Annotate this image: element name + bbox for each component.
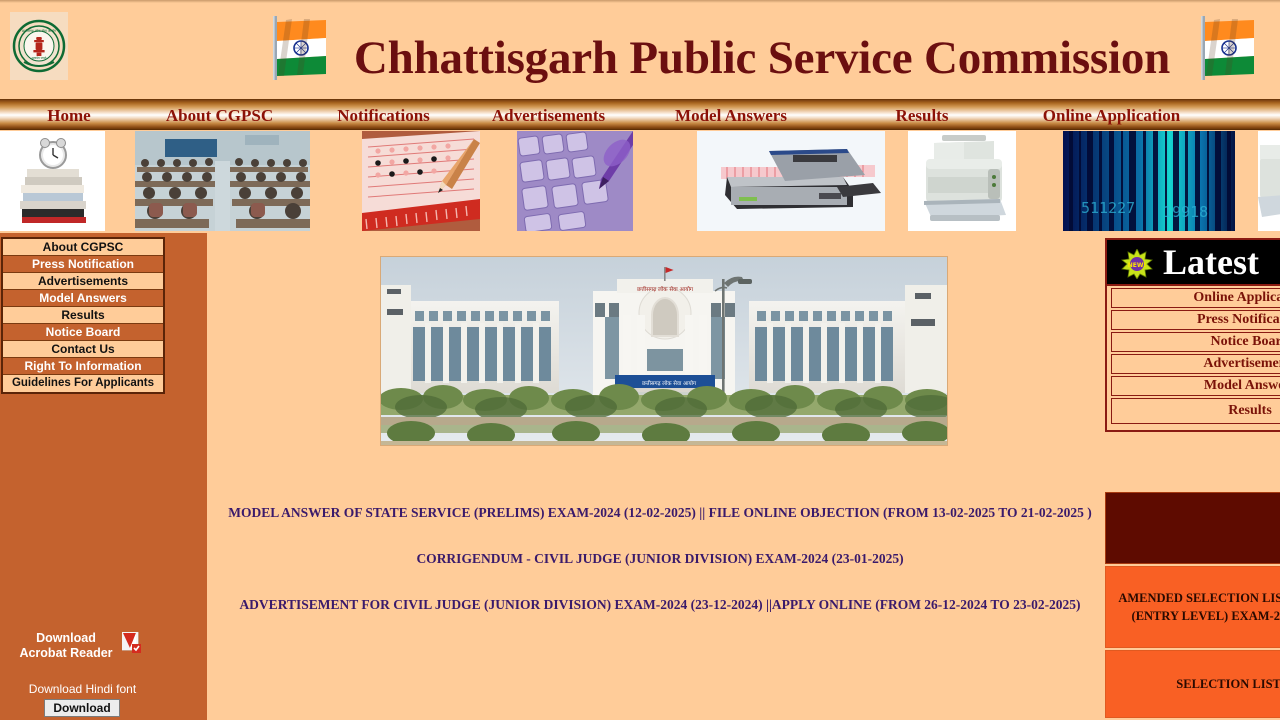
svg-text:छत्तीसगढ़ लोक सेवा आयोग: छत्तीसगढ़ लोक सेवा आयोग: [637, 285, 694, 293]
latest-banner-title: Latest: [1163, 241, 1259, 283]
latest-item-results[interactable]: Results: [1111, 398, 1280, 424]
sidebar-item-press-notification[interactable]: Press Notification: [3, 256, 163, 273]
notice-item-corrigendum-civil-judge[interactable]: CORRIGENDUM - CIVIL JUDGE (JUNIOR DIVISI…: [215, 551, 1105, 567]
latest-item-advertisements[interactable]: Advertisements: [1111, 354, 1280, 374]
sidebar-item-advertisements[interactable]: Advertisements: [3, 273, 163, 290]
notice-announcements: MODEL ANSWER OF STATE SERVICE (PRELIMS) …: [215, 505, 1105, 643]
latest-banner: NEW! Latest: [1105, 238, 1280, 286]
banner-image-strip: 511227 19918: [0, 131, 1280, 233]
main-navigation-bar: Home About CGPSC Notifications Advertise…: [0, 99, 1280, 130]
hindi-font-download-button[interactable]: Download: [44, 699, 120, 717]
notice-item-model-answer-prelims[interactable]: MODEL ANSWER OF STATE SERVICE (PRELIMS) …: [215, 505, 1105, 521]
svg-text:छत्तीसगढ़ लोक सेवा आयोग: छत्तीसगढ़ लोक सेवा आयोग: [22, 28, 56, 33]
svg-text:NEW!: NEW!: [1128, 262, 1146, 269]
title-block: Chhattisgarh Public Service Commission: [270, 14, 1260, 94]
left-sidebar: About CGPSC Press Notification Advertise…: [0, 233, 207, 720]
new-item-selection-list-part[interactable]: SELECTION LIST - PART: [1105, 650, 1280, 718]
acrobat-download-line1: Download: [14, 631, 118, 646]
exam-hall-image: [135, 131, 310, 231]
nav-item-results[interactable]: Results: [831, 106, 1013, 126]
latest-item-notice-board[interactable]: Notice Board: [1111, 332, 1280, 352]
right-sidebar-latest: NEW! Latest Online Application Press Not…: [1105, 238, 1280, 432]
adobe-acrobat-icon[interactable]: [122, 632, 142, 654]
latest-item-online-application[interactable]: Online Application: [1111, 288, 1280, 308]
nav-item-advertisements[interactable]: Advertisements: [466, 106, 631, 126]
new-item-amended-selection-list[interactable]: AMENDED SELECTION LIST - CIVIL JUDGE (EN…: [1105, 566, 1280, 648]
nav-item-notifications[interactable]: Notifications: [301, 106, 466, 126]
latest-item-press-notification[interactable]: Press Notification: [1111, 310, 1280, 330]
sidebar-item-about-cgpsc[interactable]: About CGPSC: [3, 239, 163, 256]
svg-text:छत्तीसगढ़ लोक सेवा आयोग: छत्तीसगढ़ लोक सेवा आयोग: [642, 380, 697, 387]
svg-text:सत्यमेव जयते: सत्यमेव जयते: [32, 56, 47, 60]
indian-flag-icon: [270, 16, 332, 80]
cgpsc-building-photo: छत्तीसगढ़ लोक सेवा आयोग छत्तीसगढ़ लोक से…: [380, 256, 948, 446]
nav-list: Home About CGPSC Notifications Advertise…: [0, 100, 1280, 131]
nav-item-home[interactable]: Home: [0, 106, 138, 126]
svg-text:19918: 19918: [1163, 203, 1208, 221]
indian-flag-icon: [1198, 16, 1260, 80]
sidebar-item-model-answers[interactable]: Model Answers: [3, 290, 163, 307]
nav-item-online-application[interactable]: Online Application: [1013, 106, 1210, 126]
scanner-edge-image: [1258, 131, 1280, 231]
sidebar-item-guidelines-for-applicants[interactable]: Guidelines For Applicants: [3, 375, 163, 392]
notice-item-advertisement-civil-judge[interactable]: ADVERTISEMENT FOR CIVIL JUDGE (JUNIOR DI…: [215, 597, 1105, 613]
nav-item-about-cgpsc[interactable]: About CGPSC: [138, 106, 301, 126]
books-and-clock-image: [0, 131, 105, 231]
new-announcements-panel: ..NEW.. AMENDED SELECTION LIST - CIVIL J…: [1105, 492, 1280, 718]
cgpsc-emblem-icon: छत्तीसगढ़ लोक सेवा आयोग सत्यमेव जयते: [10, 12, 68, 80]
acrobat-download-label[interactable]: Download Acrobat Reader: [14, 631, 118, 661]
keyboard-pen-image: [517, 131, 633, 231]
acrobat-download-line2: Acrobat Reader: [14, 646, 118, 661]
nav-item-model-answers[interactable]: Model Answers: [631, 106, 831, 126]
sidebar-item-contact-us[interactable]: Contact Us: [3, 341, 163, 358]
document-scanner-image: [908, 131, 1016, 231]
sidebar-item-right-to-information[interactable]: Right To Information: [3, 358, 163, 375]
new-burst-icon: NEW!: [1121, 249, 1153, 279]
cgpsc-homepage: छत्तीसगढ़ लोक सेवा आयोग सत्यमेव जयते: [0, 0, 1280, 720]
hindi-font-label: Download Hindi font: [0, 682, 165, 696]
left-sidebar-menu: About CGPSC Press Notification Advertise…: [1, 237, 165, 394]
latest-item-model-answers[interactable]: Model Answers: [1111, 376, 1280, 396]
latest-links-list: Online Application Press Notification No…: [1105, 286, 1280, 432]
new-panel-header: ..NEW..: [1105, 492, 1280, 564]
omr-scanner-image: [697, 131, 885, 231]
svg-text:511227: 511227: [1081, 199, 1135, 217]
barcode-image: 511227 19918: [1063, 131, 1235, 231]
omr-sheet-pencil-image: [362, 131, 480, 231]
header-top-rule: [0, 0, 1280, 3]
sidebar-item-results[interactable]: Results: [3, 307, 163, 324]
page-title: Chhattisgarh Public Service Commission: [336, 30, 1188, 86]
sidebar-item-notice-board[interactable]: Notice Board: [3, 324, 163, 341]
site-header: छत्तीसगढ़ लोक सेवा आयोग सत्यमेव जयते: [0, 0, 1280, 100]
